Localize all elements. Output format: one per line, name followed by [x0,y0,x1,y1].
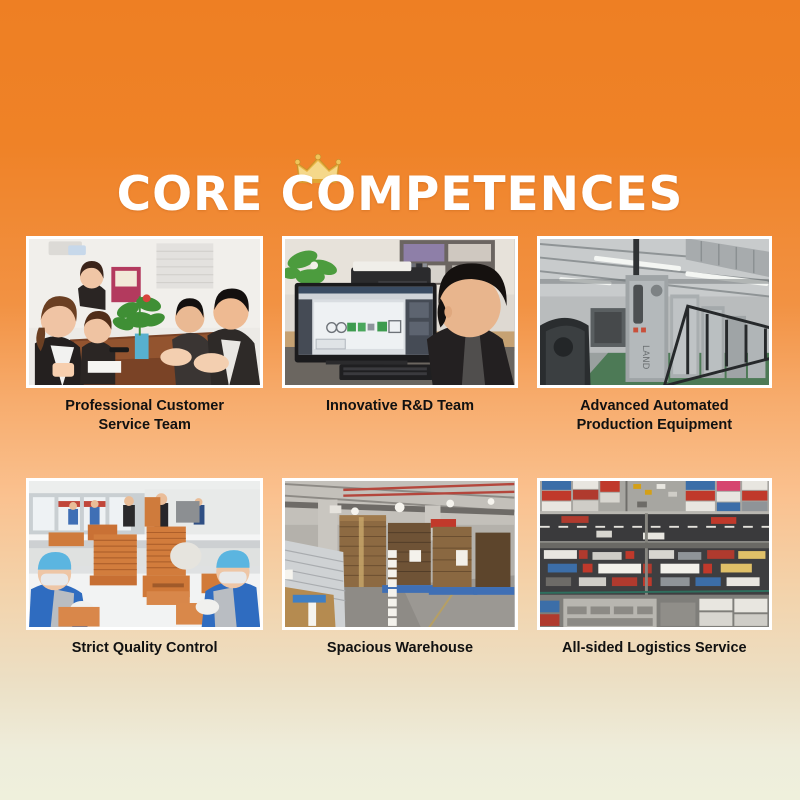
competence-caption-spacious-warehouse: Spacious Warehouse [282,639,517,658]
svg-text:LAND: LAND [640,345,650,370]
competence-image-innovative-rd-team [282,236,517,388]
competence-card-all-sided-logistics-service[interactable]: All-sided Logistics Service [537,478,772,658]
competence-card-advanced-automated-production-equipment[interactable]: LAND [537,236,772,435]
competence-caption-strict-quality-control: Strict Quality Control [26,639,263,658]
competence-image-all-sided-logistics-service [537,478,772,630]
caption-line-1: Strict Quality Control [26,639,263,658]
page-header: CORE COMPETENCES [0,150,800,222]
core-competences-banner: CORE COMPETENCES [0,0,800,800]
competence-card-strict-quality-control[interactable]: Strict Quality Control [26,478,263,658]
competence-image-professional-customer-service-team [26,236,263,388]
competences-row-2: Strict Quality Control [26,478,772,658]
caption-line-2: Production Equipment [537,416,772,435]
competence-image-strict-quality-control [26,478,263,630]
competence-image-advanced-automated-production-equipment: LAND [537,236,772,388]
competence-caption-innovative-rd-team: Innovative R&D Team [282,397,517,416]
competence-card-innovative-rd-team[interactable]: Innovative R&D Team [282,236,517,435]
competence-caption-professional-customer-service-team: Professional Customer Service Team [26,397,263,435]
competence-caption-advanced-automated-production-equipment: Advanced Automated Production Equipment [537,397,772,435]
caption-line-1: All-sided Logistics Service [537,639,772,658]
page-title: CORE COMPETENCES [117,150,684,222]
competences-row-1: Professional Customer Service Team [26,236,772,435]
competences-grid: Professional Customer Service Team [26,236,772,658]
competence-card-spacious-warehouse[interactable]: Spacious Warehouse [282,478,517,658]
caption-line-1: Professional Customer [26,397,263,416]
caption-line-1: Innovative R&D Team [282,397,517,416]
caption-line-1: Spacious Warehouse [282,639,517,658]
competence-caption-all-sided-logistics-service: All-sided Logistics Service [537,639,772,658]
competence-card-professional-customer-service-team[interactable]: Professional Customer Service Team [26,236,263,435]
caption-line-2: Service Team [26,416,263,435]
caption-line-1: Advanced Automated [537,397,772,416]
competence-image-spacious-warehouse [282,478,517,630]
